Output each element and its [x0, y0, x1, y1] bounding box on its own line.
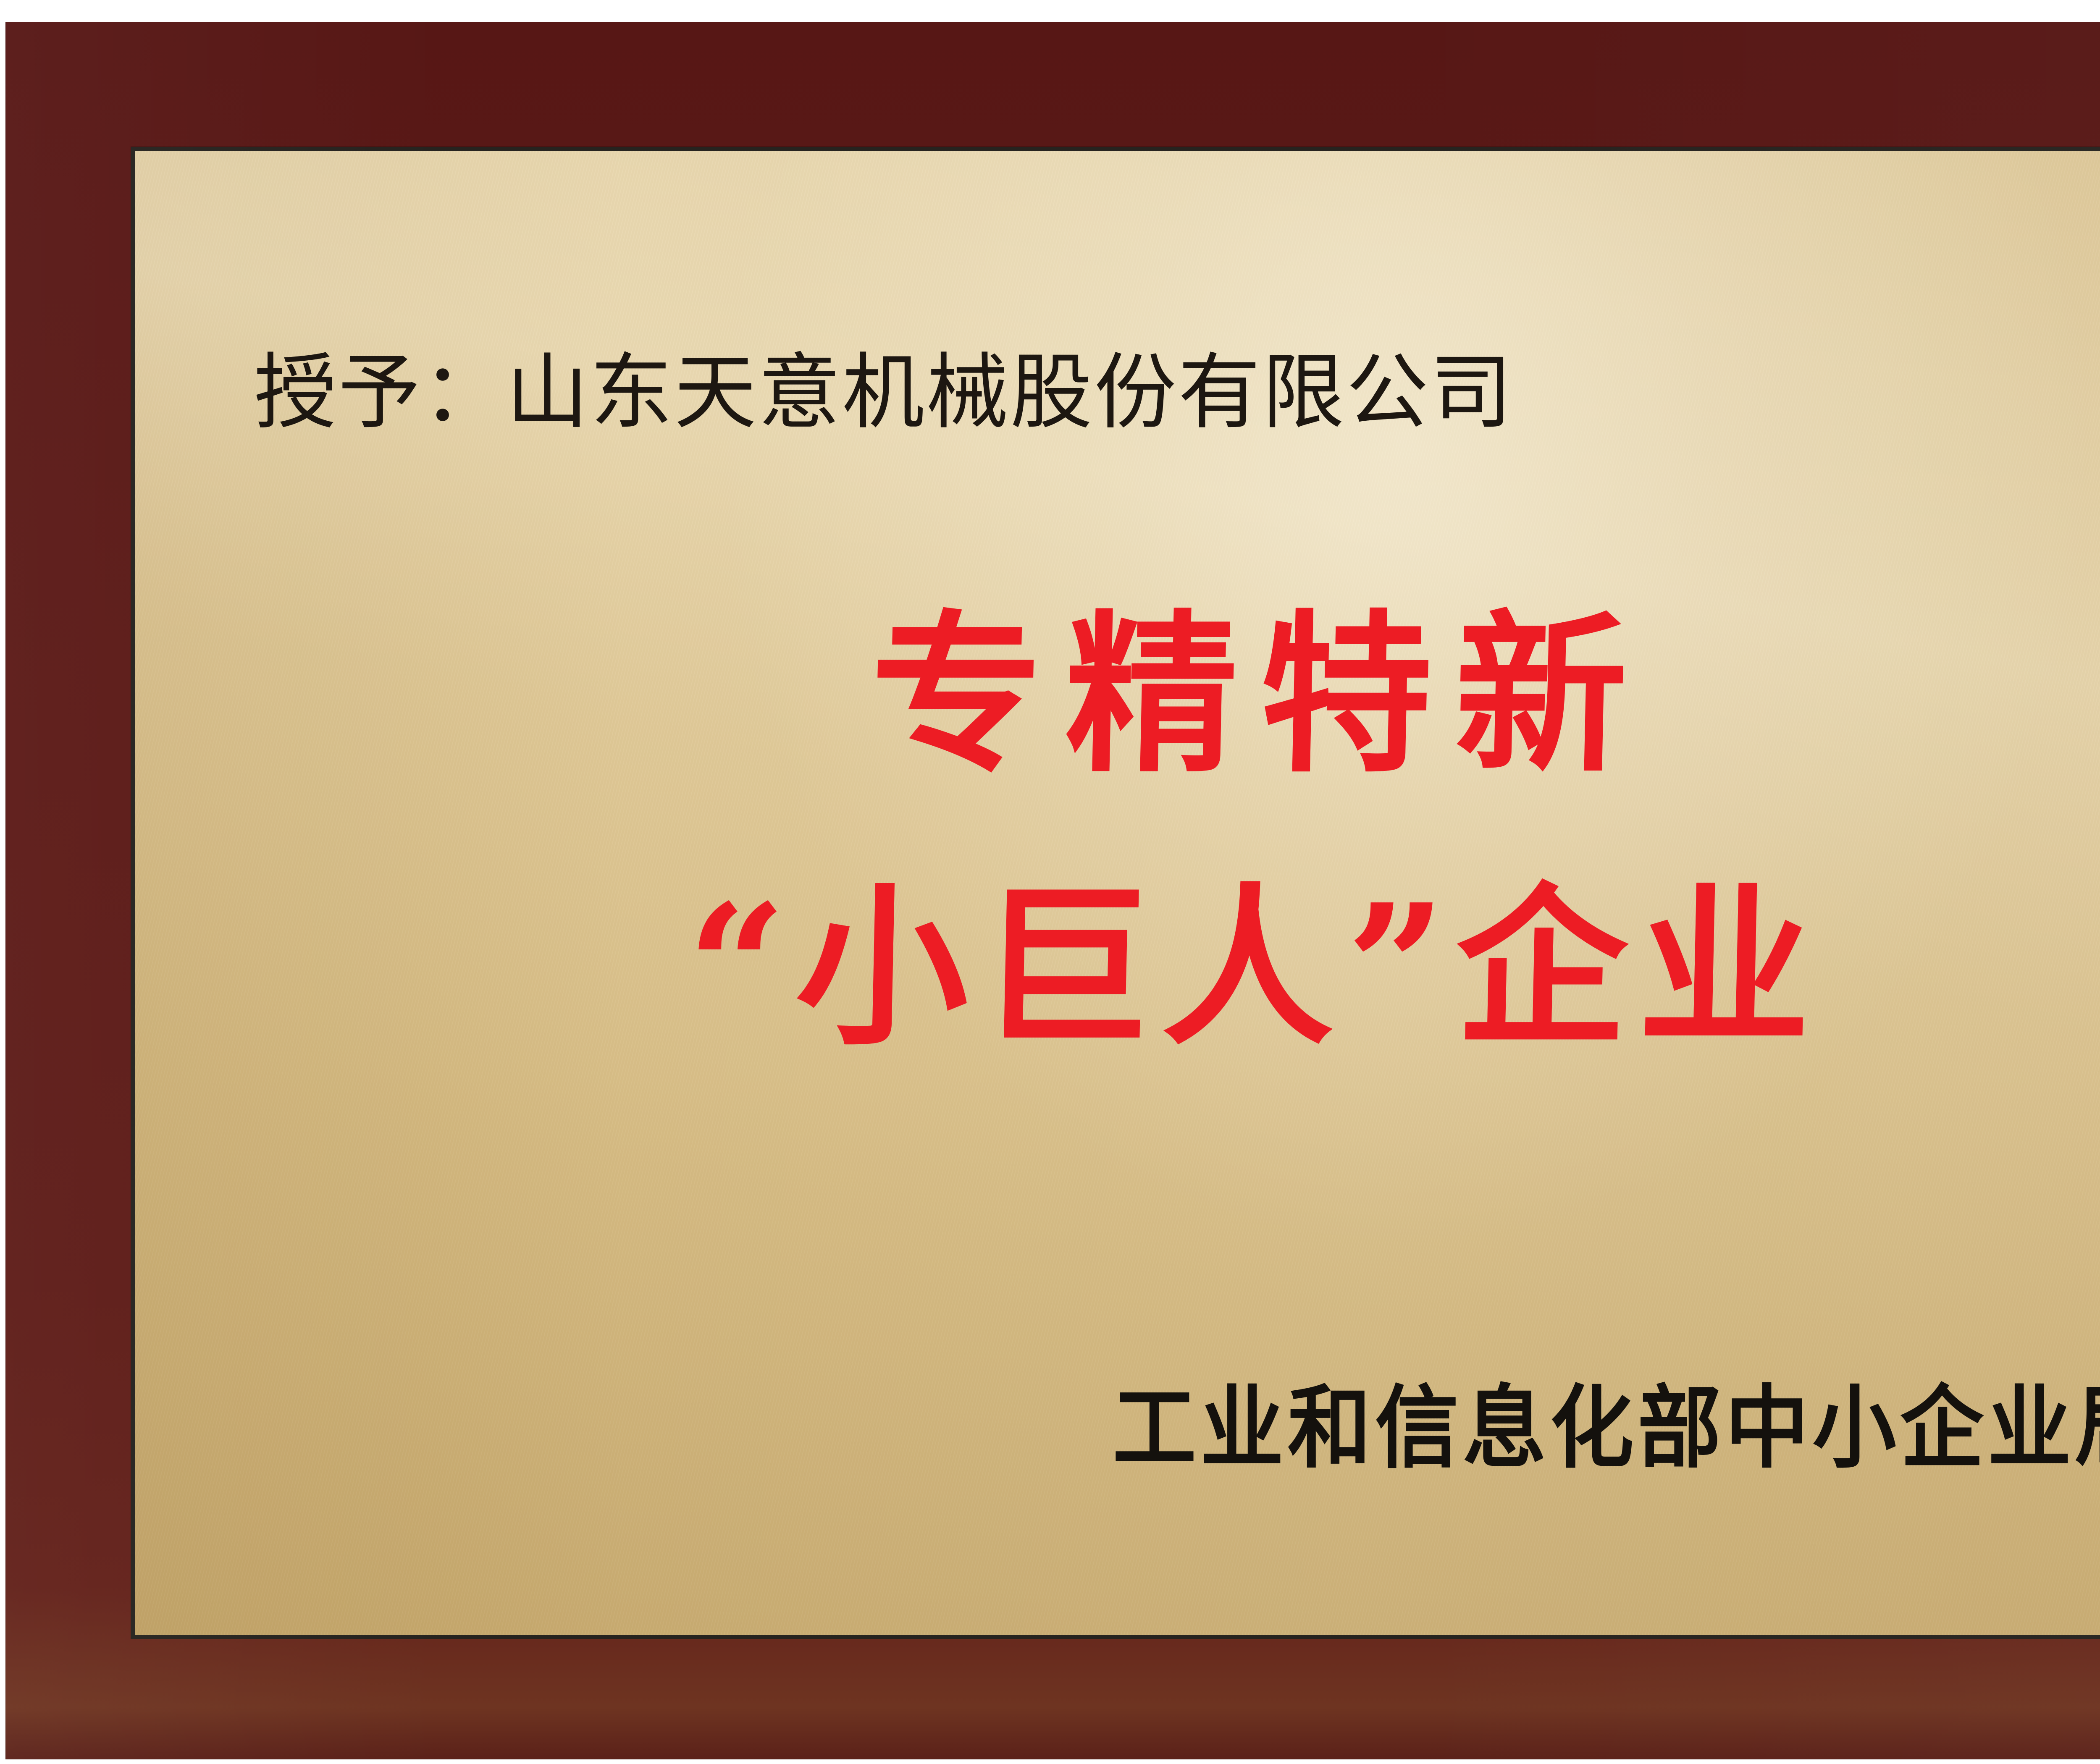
gold-plate-surface: 授予：山东天意机械股份有限公司 专精特新 “小巨人”企业 工业和信息化部中小企业… [135, 151, 2100, 1635]
issuer-name: 工业和信息化部中小企业局 [1113, 1383, 2100, 1473]
headline-line-1: 专精特新 [135, 608, 2100, 781]
plaque-stage: 授予：山东天意机械股份有限公司 专精特新 “小巨人”企业 工业和信息化部中小企业… [0, 0, 2100, 1764]
plate-content: 授予：山东天意机械股份有限公司 专精特新 “小巨人”企业 工业和信息化部中小企业… [135, 151, 2100, 1635]
plaque-outer-frame: 授予：山东天意机械股份有限公司 专精特新 “小巨人”企业 工业和信息化部中小企业… [5, 22, 2100, 1759]
awardee-line: 授予：山东天意机械股份有限公司 [254, 351, 1514, 434]
plate-bezel-border: 授予：山东天意机械股份有限公司 专精特新 “小巨人”企业 工业和信息化部中小企业… [131, 147, 2100, 1639]
headline-line-2: “小巨人”企业 [135, 881, 2100, 1054]
